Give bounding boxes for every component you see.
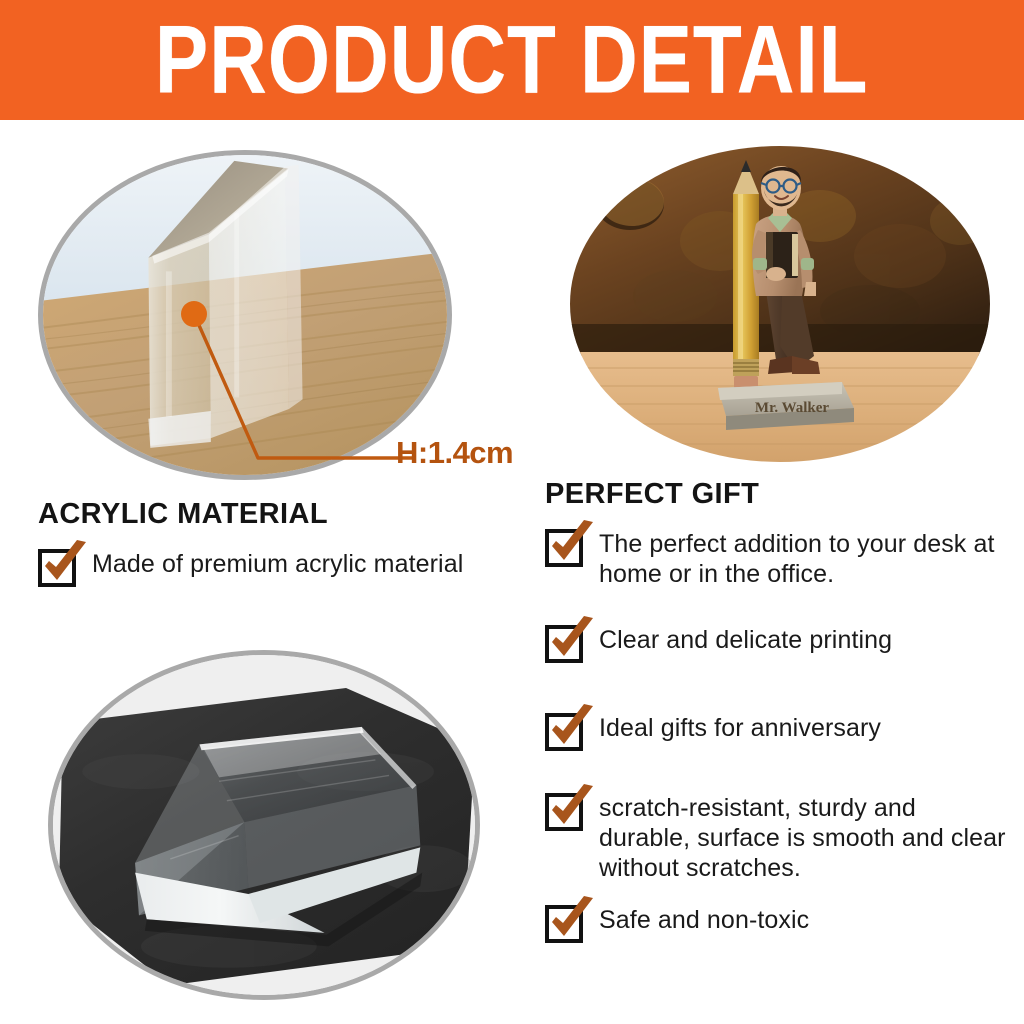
heading-perfect-gift: PERFECT GIFT (545, 478, 759, 511)
list-item-text: Safe and non-toxic (599, 898, 1011, 935)
list-item: Clear and delicate printing (545, 618, 1015, 664)
checkmark-glyph (543, 702, 599, 754)
checkmark-glyph (36, 538, 92, 590)
list-item-text: scratch-resistant, sturdy and durable, s… (599, 786, 1011, 883)
header-banner: PRODUCT DETAIL (0, 0, 1024, 120)
page-title: PRODUCT DETAIL (155, 12, 869, 108)
list-item-text: Clear and delicate printing (599, 618, 1011, 655)
acrylic-edge-illustration (43, 155, 447, 475)
base-engraving: Mr. Walker (755, 400, 830, 416)
checkbox-checked-icon (545, 522, 599, 568)
photo-teacher-figurine: Mr. Walker (570, 146, 990, 462)
checkbox-checked-icon (545, 786, 599, 832)
list-item-text: The perfect addition to your desk at hom… (599, 522, 1011, 589)
checkbox-checked-icon (545, 706, 599, 752)
checkbox-checked-icon (545, 618, 599, 664)
checkbox-checked-icon (545, 898, 599, 944)
photo-acrylic-square-block (48, 650, 480, 1000)
list-item: Safe and non-toxic (545, 898, 1015, 944)
figurine-illustration: Mr. Walker (570, 146, 990, 462)
list-item: Ideal gifts for anniversary (545, 706, 1015, 752)
heading-acrylic-material: ACRYLIC MATERIAL (38, 498, 328, 531)
checkmark-glyph (543, 614, 599, 666)
photo-acrylic-block-edge (38, 150, 452, 480)
list-item: The perfect addition to your desk at hom… (545, 522, 1015, 589)
list-item: Made of premium acrylic material (38, 542, 518, 588)
checkmark-glyph (543, 782, 599, 834)
checkmark-glyph (543, 894, 599, 946)
acrylic-block-illustration (53, 655, 475, 995)
checkmark-glyph (543, 518, 599, 570)
dimension-label: H:1.4cm (396, 435, 513, 471)
list-item: scratch-resistant, sturdy and durable, s… (545, 786, 1015, 883)
list-item-text: Made of premium acrylic material (92, 542, 512, 579)
list-item-text: Ideal gifts for anniversary (599, 706, 1011, 743)
checkbox-checked-icon (38, 542, 92, 588)
